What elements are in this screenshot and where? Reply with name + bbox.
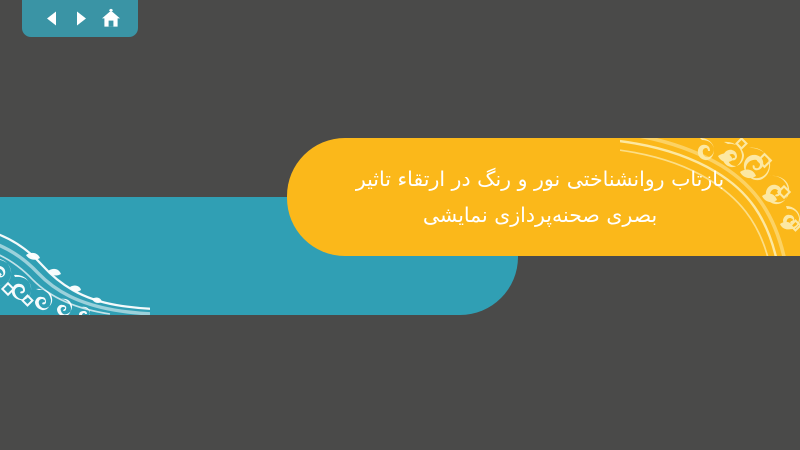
presentation-slide: بازتاب روانشناختی نور و رنگ در ارتقاء تا… xyxy=(0,0,800,450)
next-slide-button[interactable] xyxy=(66,4,96,34)
next-triangle-icon xyxy=(72,9,91,28)
arabesque-corner-ornament-orange xyxy=(620,138,800,256)
slide-navigation-bar[interactable] xyxy=(22,0,138,37)
home-icon xyxy=(100,8,122,29)
home-button[interactable] xyxy=(96,4,126,34)
previous-slide-button[interactable] xyxy=(36,4,66,34)
previous-triangle-icon xyxy=(42,9,61,28)
title-banner xyxy=(287,138,800,256)
arabesque-corner-ornament-teal xyxy=(0,197,150,315)
